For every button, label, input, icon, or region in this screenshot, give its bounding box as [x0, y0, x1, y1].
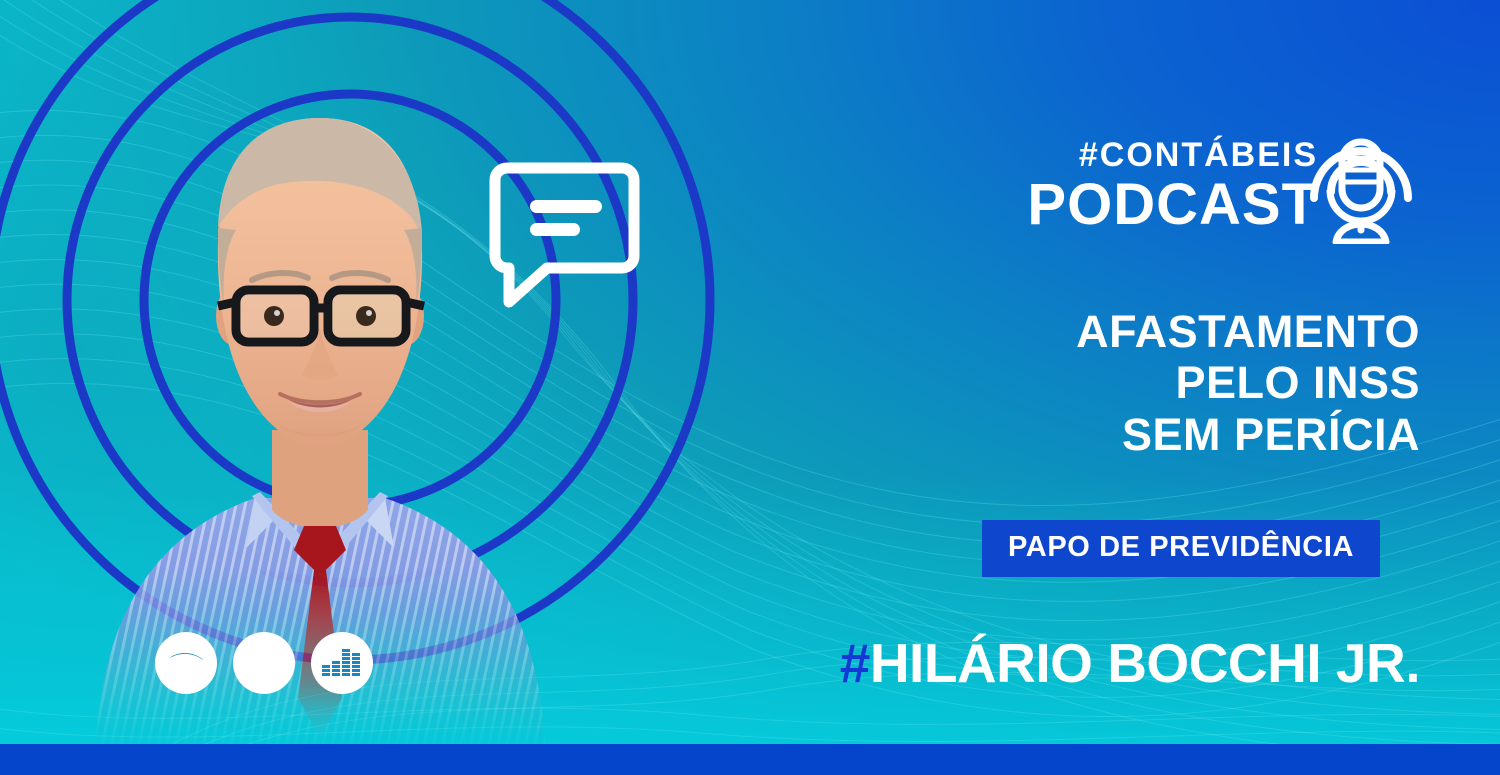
logo-top-line: #CONTÁBEIS	[1027, 138, 1318, 172]
chat-bubble-icon	[487, 160, 642, 308]
episode-title-line-3: SEM PERÍCIA	[940, 409, 1420, 460]
right-content-column: #CONTÁBEIS PODCAST	[900, 0, 1460, 775]
logo-bottom-line: PODCAST	[1027, 176, 1318, 234]
podcast-logo-text: #CONTÁBEIS PODCAST	[1027, 138, 1318, 238]
podcast-logo: #CONTÁBEIS PODCAST	[1027, 112, 1420, 238]
series-badge: PAPO DE PREVIDÊNCIA	[982, 520, 1380, 577]
episode-title-line-2: PELO INSS	[940, 357, 1420, 408]
episode-title-line-1: AFASTAMENTO	[940, 306, 1420, 357]
microphone-icon	[1302, 112, 1420, 244]
spotify-icon[interactable]	[155, 632, 217, 694]
episode-title: AFASTAMENTO PELO INSS SEM PERÍCIA	[940, 306, 1420, 460]
deezer-icon[interactable]	[311, 632, 373, 694]
bottom-accent-bar	[0, 744, 1500, 775]
soundcloud-icon[interactable]	[233, 632, 295, 694]
platform-icons[interactable]	[155, 632, 373, 694]
guest-name-hash: #	[840, 632, 870, 694]
podcast-cover-banner: #CONTÁBEIS PODCAST	[0, 0, 1500, 775]
guest-name-text: HILÁRIO BOCCHI JR.	[870, 632, 1420, 694]
guest-name: #HILÁRIO BOCCHI JR.	[840, 631, 1420, 695]
